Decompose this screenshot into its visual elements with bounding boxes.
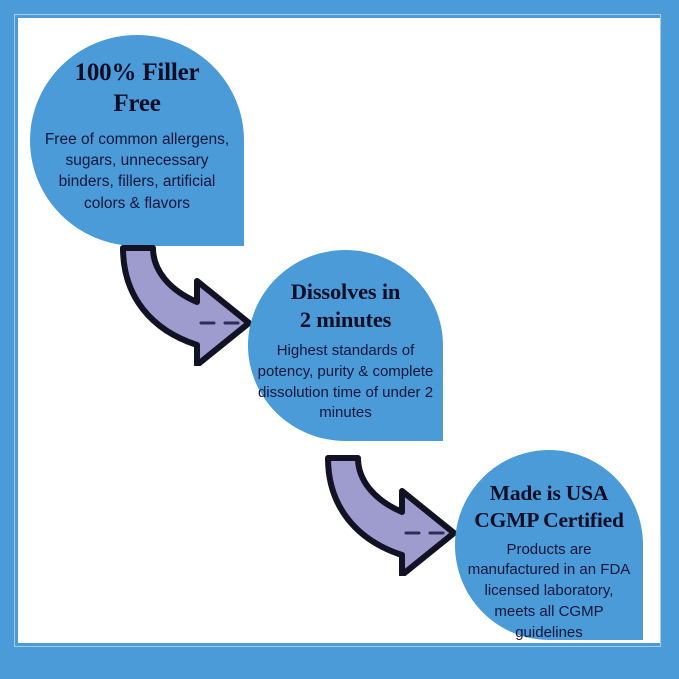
- step-title-filler-free: 100% Filler Free: [75, 57, 200, 120]
- step-title-cgmp: Made is USA CGMP Certified: [474, 480, 623, 534]
- step-title-line: Dissolves in: [291, 278, 401, 306]
- step-title-line: 100% Filler: [75, 57, 200, 88]
- step-card-cgmp[interactable]: Made is USA CGMP Certified Products are …: [455, 450, 643, 640]
- infographic-canvas: 100% Filler Free Free of common allergen…: [0, 0, 679, 679]
- step-body-filler-free: Free of common allergens, sugars, unnece…: [44, 129, 230, 215]
- step-title-line: Free: [75, 88, 200, 119]
- infographic-plate: 100% Filler Free Free of common allergen…: [18, 18, 661, 643]
- step-title-line: Made is USA: [474, 480, 623, 507]
- step-title-line: 2 minutes: [291, 306, 401, 334]
- step-body-dissolves: Highest standards of potency, purity & c…: [256, 341, 435, 424]
- step-body-cgmp: Products are manufactured in an FDA lice…: [463, 540, 635, 643]
- step-card-filler-free[interactable]: 100% Filler Free Free of common allergen…: [30, 35, 244, 246]
- step-title-dissolves: Dissolves in 2 minutes: [291, 278, 401, 334]
- step-title-line: CGMP Certified: [474, 507, 623, 534]
- step-card-dissolves[interactable]: Dissolves in 2 minutes Highest standards…: [248, 250, 443, 441]
